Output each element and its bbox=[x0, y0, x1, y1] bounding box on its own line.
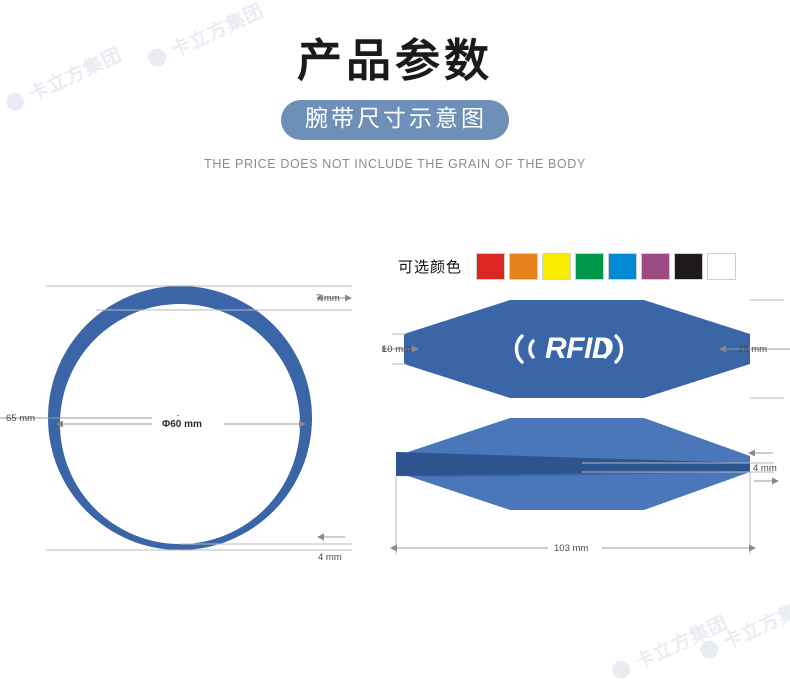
page-header: 产品参数 腕带尺寸示意图 THE PRICE DOES NOT INCLUDE … bbox=[0, 0, 790, 171]
wristband-circle-diagram: 65 mm Φ60 mm 7 mm 4 mm bbox=[0, 268, 380, 598]
watermark-text: 卡立方集团 bbox=[718, 588, 790, 655]
color-swatch-orange[interactable] bbox=[509, 253, 538, 280]
dimension-label-height: 65 mm bbox=[6, 413, 35, 424]
dimension-label-top-thickness: 7 mm bbox=[316, 293, 340, 304]
watermark: 卡立方集团 bbox=[606, 608, 732, 686]
dimension-label-diameter: Φ60 mm bbox=[162, 419, 202, 430]
wristband-ring-shape bbox=[0, 268, 380, 598]
color-swatch-yellow[interactable] bbox=[542, 253, 571, 280]
english-note: THE PRICE DOES NOT INCLUDE THE GRAIN OF … bbox=[0, 157, 790, 171]
dimension-label-bottom-thickness: 4 mm bbox=[318, 552, 342, 563]
dimension-label-length: 103 mm bbox=[554, 543, 588, 554]
brand-logo-icon bbox=[696, 636, 723, 663]
color-swatch-green[interactable] bbox=[575, 253, 604, 280]
color-options: 可选颜色 bbox=[398, 253, 736, 280]
color-swatch-black[interactable] bbox=[674, 253, 703, 280]
color-swatch-purple[interactable] bbox=[641, 253, 670, 280]
color-swatch-red[interactable] bbox=[476, 253, 505, 280]
brand-logo-icon bbox=[608, 656, 635, 683]
subtitle-badge: 腕带尺寸示意图 bbox=[281, 100, 509, 140]
color-swatch-white[interactable] bbox=[707, 253, 736, 280]
wristband-flat-diagram: RFID 10 mm 28 mm 4 mm 103 mm bbox=[382, 286, 790, 586]
dimension-label-narrow-width: 10 mm bbox=[382, 344, 411, 355]
dimension-label-thickness: 4 mm bbox=[753, 463, 777, 474]
color-options-label: 可选颜色 bbox=[398, 256, 462, 277]
watermark: 卡立方集团 bbox=[694, 588, 790, 666]
dimension-label-wide-width: 28 mm bbox=[738, 344, 767, 355]
page-title: 产品参数 bbox=[0, 38, 790, 83]
rfid-logo-text: RFID bbox=[545, 332, 613, 365]
color-swatch-list bbox=[476, 253, 736, 280]
color-swatch-blue[interactable] bbox=[608, 253, 637, 280]
